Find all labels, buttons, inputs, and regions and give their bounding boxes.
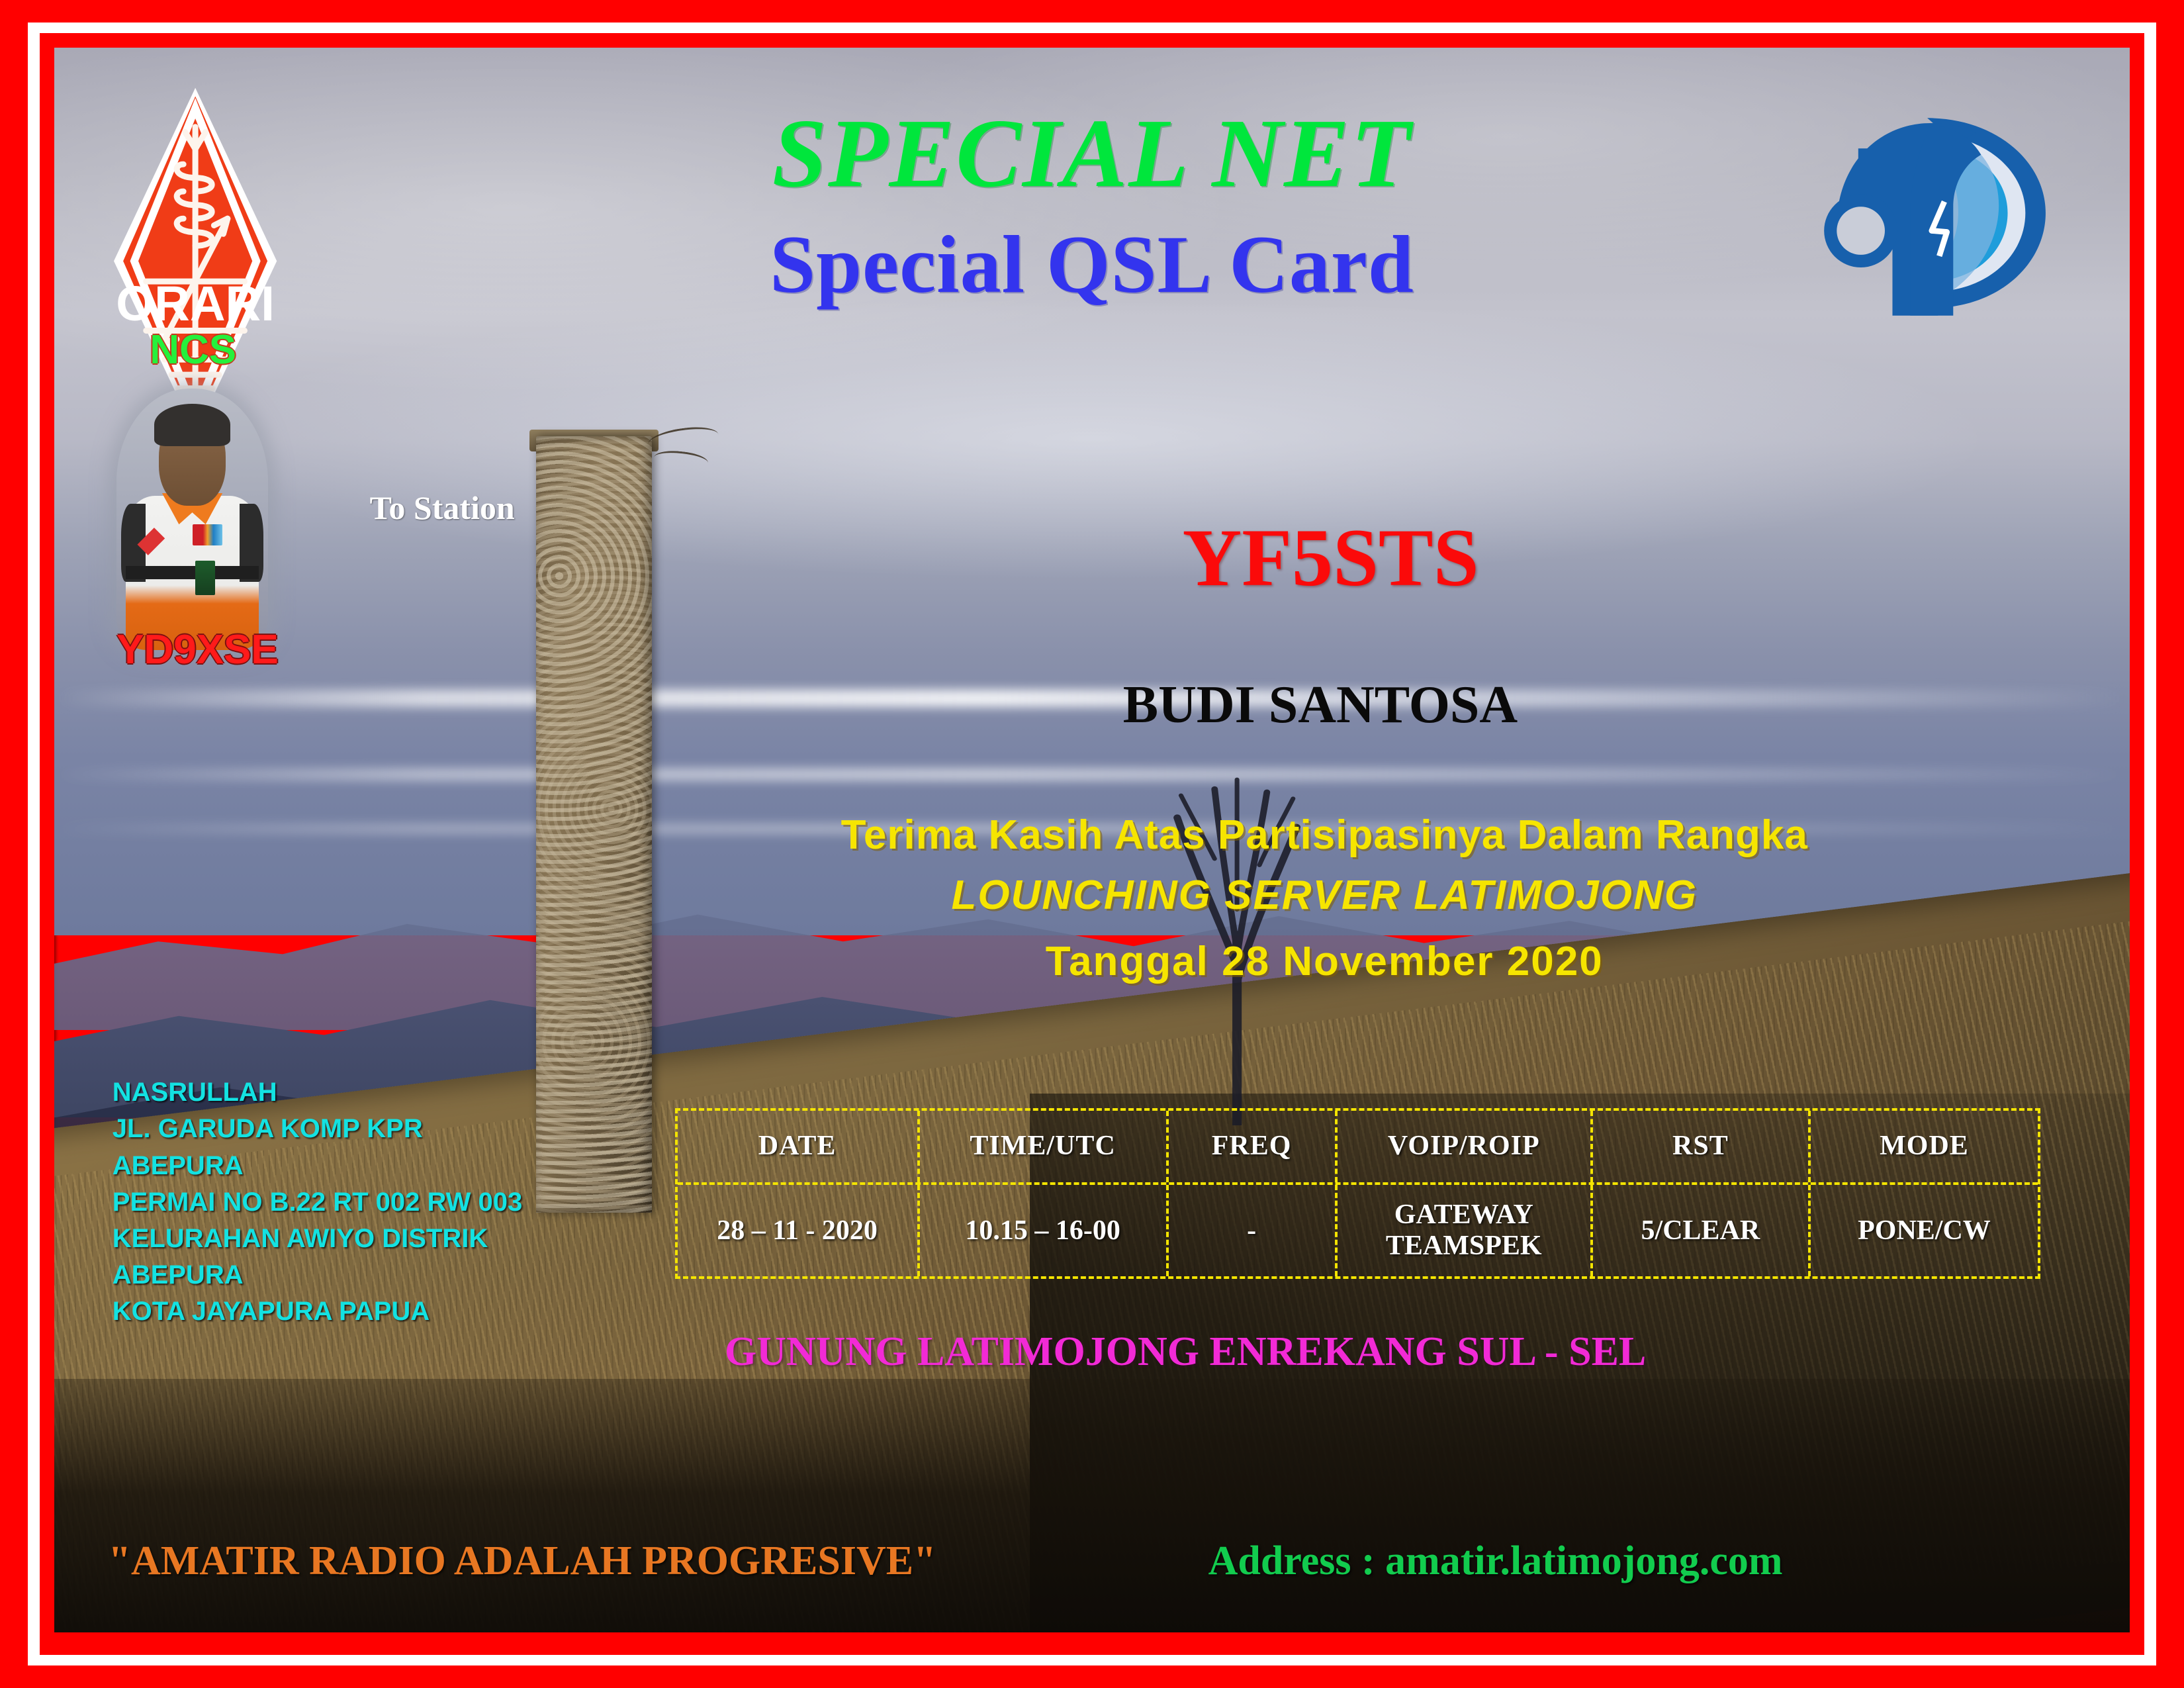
table-row: 28 – 11 - 2020 10.15 – 16-00 - GATEWAY T… (678, 1185, 2038, 1276)
mailing-address-block: NASRULLAH JL. GARUDA KOMP KPR ABEPURA PE… (113, 1074, 522, 1330)
cell-rst: 5/CLEAR (1593, 1185, 1811, 1276)
column-header-freq: FREQ (1169, 1111, 1338, 1183)
address-line: JL. GARUDA KOMP KPR (113, 1111, 522, 1147)
cell-mode: PONE/CW (1811, 1185, 2038, 1276)
address-line: PERMAI NO B.22 RT 002 RW 003 (113, 1184, 522, 1221)
location-line: GUNUNG LATIMOJONG ENREKANG SUL - SEL (148, 1331, 2130, 1372)
cell-voip: GATEWAY TEAMSPEK (1338, 1185, 1593, 1276)
station-operator-name: BUDI SANTOSA (283, 679, 2130, 731)
column-header-time: TIME/UTC (920, 1111, 1169, 1183)
footer-motto: "AMATIR RADIO ADALAH PROGRESIVE" (109, 1540, 936, 1581)
station-callsign: YF5STS (293, 517, 2130, 599)
cell-freq: - (1169, 1185, 1338, 1276)
cell-time: 10.15 – 16-00 (920, 1185, 1169, 1276)
column-header-voip: VOIP/ROIP (1338, 1111, 1593, 1183)
footer-web-address: Address : amatir.latimojong.com (1208, 1540, 1783, 1581)
address-line: NASRULLAH (113, 1074, 522, 1111)
page-subtitle-qsl-card: Special QSL Card (54, 224, 2130, 306)
address-line: ABEPURA (113, 1148, 522, 1184)
event-date: Tanggal 28 November 2020 (287, 941, 2130, 982)
background-photo: ORARI SPECIAL (54, 48, 2130, 1632)
address-line: ABEPURA (113, 1257, 522, 1293)
ncs-label: NCS (150, 330, 236, 371)
cell-date: 28 – 11 - 2020 (678, 1185, 920, 1276)
uniform-stripe (126, 566, 259, 579)
qso-log-table: DATE TIME/UTC FREQ VOIP/ROIP RST MODE 28… (675, 1108, 2040, 1280)
column-header-mode: MODE (1811, 1111, 2038, 1183)
address-line: KOTA JAYAPURA PAPUA (113, 1293, 522, 1330)
page-title-special-net: SPECIAL NET (54, 105, 2130, 203)
thanks-message: Terima Kasih Atas Partisipasinya Dalam R… (287, 815, 2130, 856)
event-title: LOUNCHING SERVER LATIMOJONG (287, 875, 2130, 916)
ncs-callsign: YD9XSE (116, 630, 279, 671)
column-header-rst: RST (1593, 1111, 1811, 1183)
uniform-chest-logo (193, 524, 223, 545)
operator-hair (154, 404, 230, 445)
address-line: KELURAHAN AWIYO DISTRIK (113, 1221, 522, 1257)
cloud-streak (54, 769, 2130, 780)
qsl-card-frame: ORARI SPECIAL (0, 0, 2184, 1688)
ncs-operator-photo (116, 389, 268, 650)
uniform-id-badge (195, 561, 215, 594)
foreground-dark-band (54, 1379, 2130, 1632)
bare-tree-silhouette (1144, 745, 1330, 1125)
column-header-date: DATE (678, 1111, 920, 1183)
table-header-row: DATE TIME/UTC FREQ VOIP/ROIP RST MODE (678, 1111, 2038, 1186)
